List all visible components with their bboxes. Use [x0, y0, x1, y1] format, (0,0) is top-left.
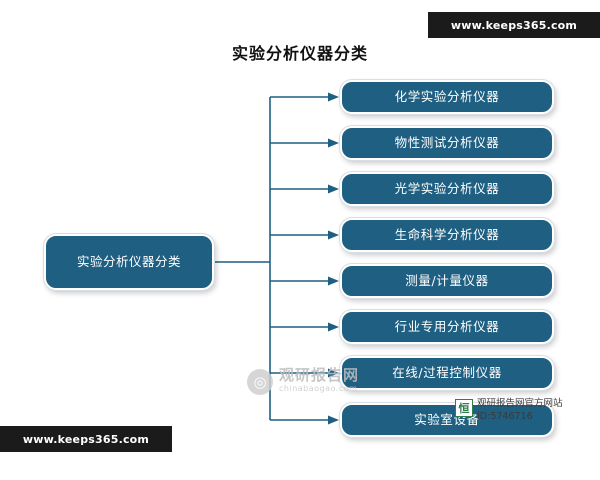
node-measurement[interactable]: 测量/计量仪器	[340, 264, 554, 298]
root-node[interactable]: 实验分析仪器分类	[44, 234, 214, 290]
node-lab-equipment[interactable]: 实验室设备	[340, 403, 554, 437]
node-physical-property[interactable]: 物性测试分析仪器	[340, 126, 554, 160]
watermark-bar-top: www.keeps365.com	[428, 12, 600, 38]
page-title: 实验分析仪器分类	[0, 40, 600, 64]
watermark-bar-bottom: www.keeps365.com	[0, 426, 172, 452]
node-optical[interactable]: 光学实验分析仪器	[340, 172, 554, 206]
node-chemistry[interactable]: 化学实验分析仪器	[340, 80, 554, 114]
node-life-science[interactable]: 生命科学分析仪器	[340, 218, 554, 252]
node-online-process[interactable]: 在线/过程控制仪器	[340, 356, 554, 390]
diagram-canvas: 实验分析仪器分类 实验分析仪器分类 化学实验分析仪器 物性测试分析仪器 光学实验…	[0, 0, 600, 480]
node-industry-specific[interactable]: 行业专用分析仪器	[340, 310, 554, 344]
